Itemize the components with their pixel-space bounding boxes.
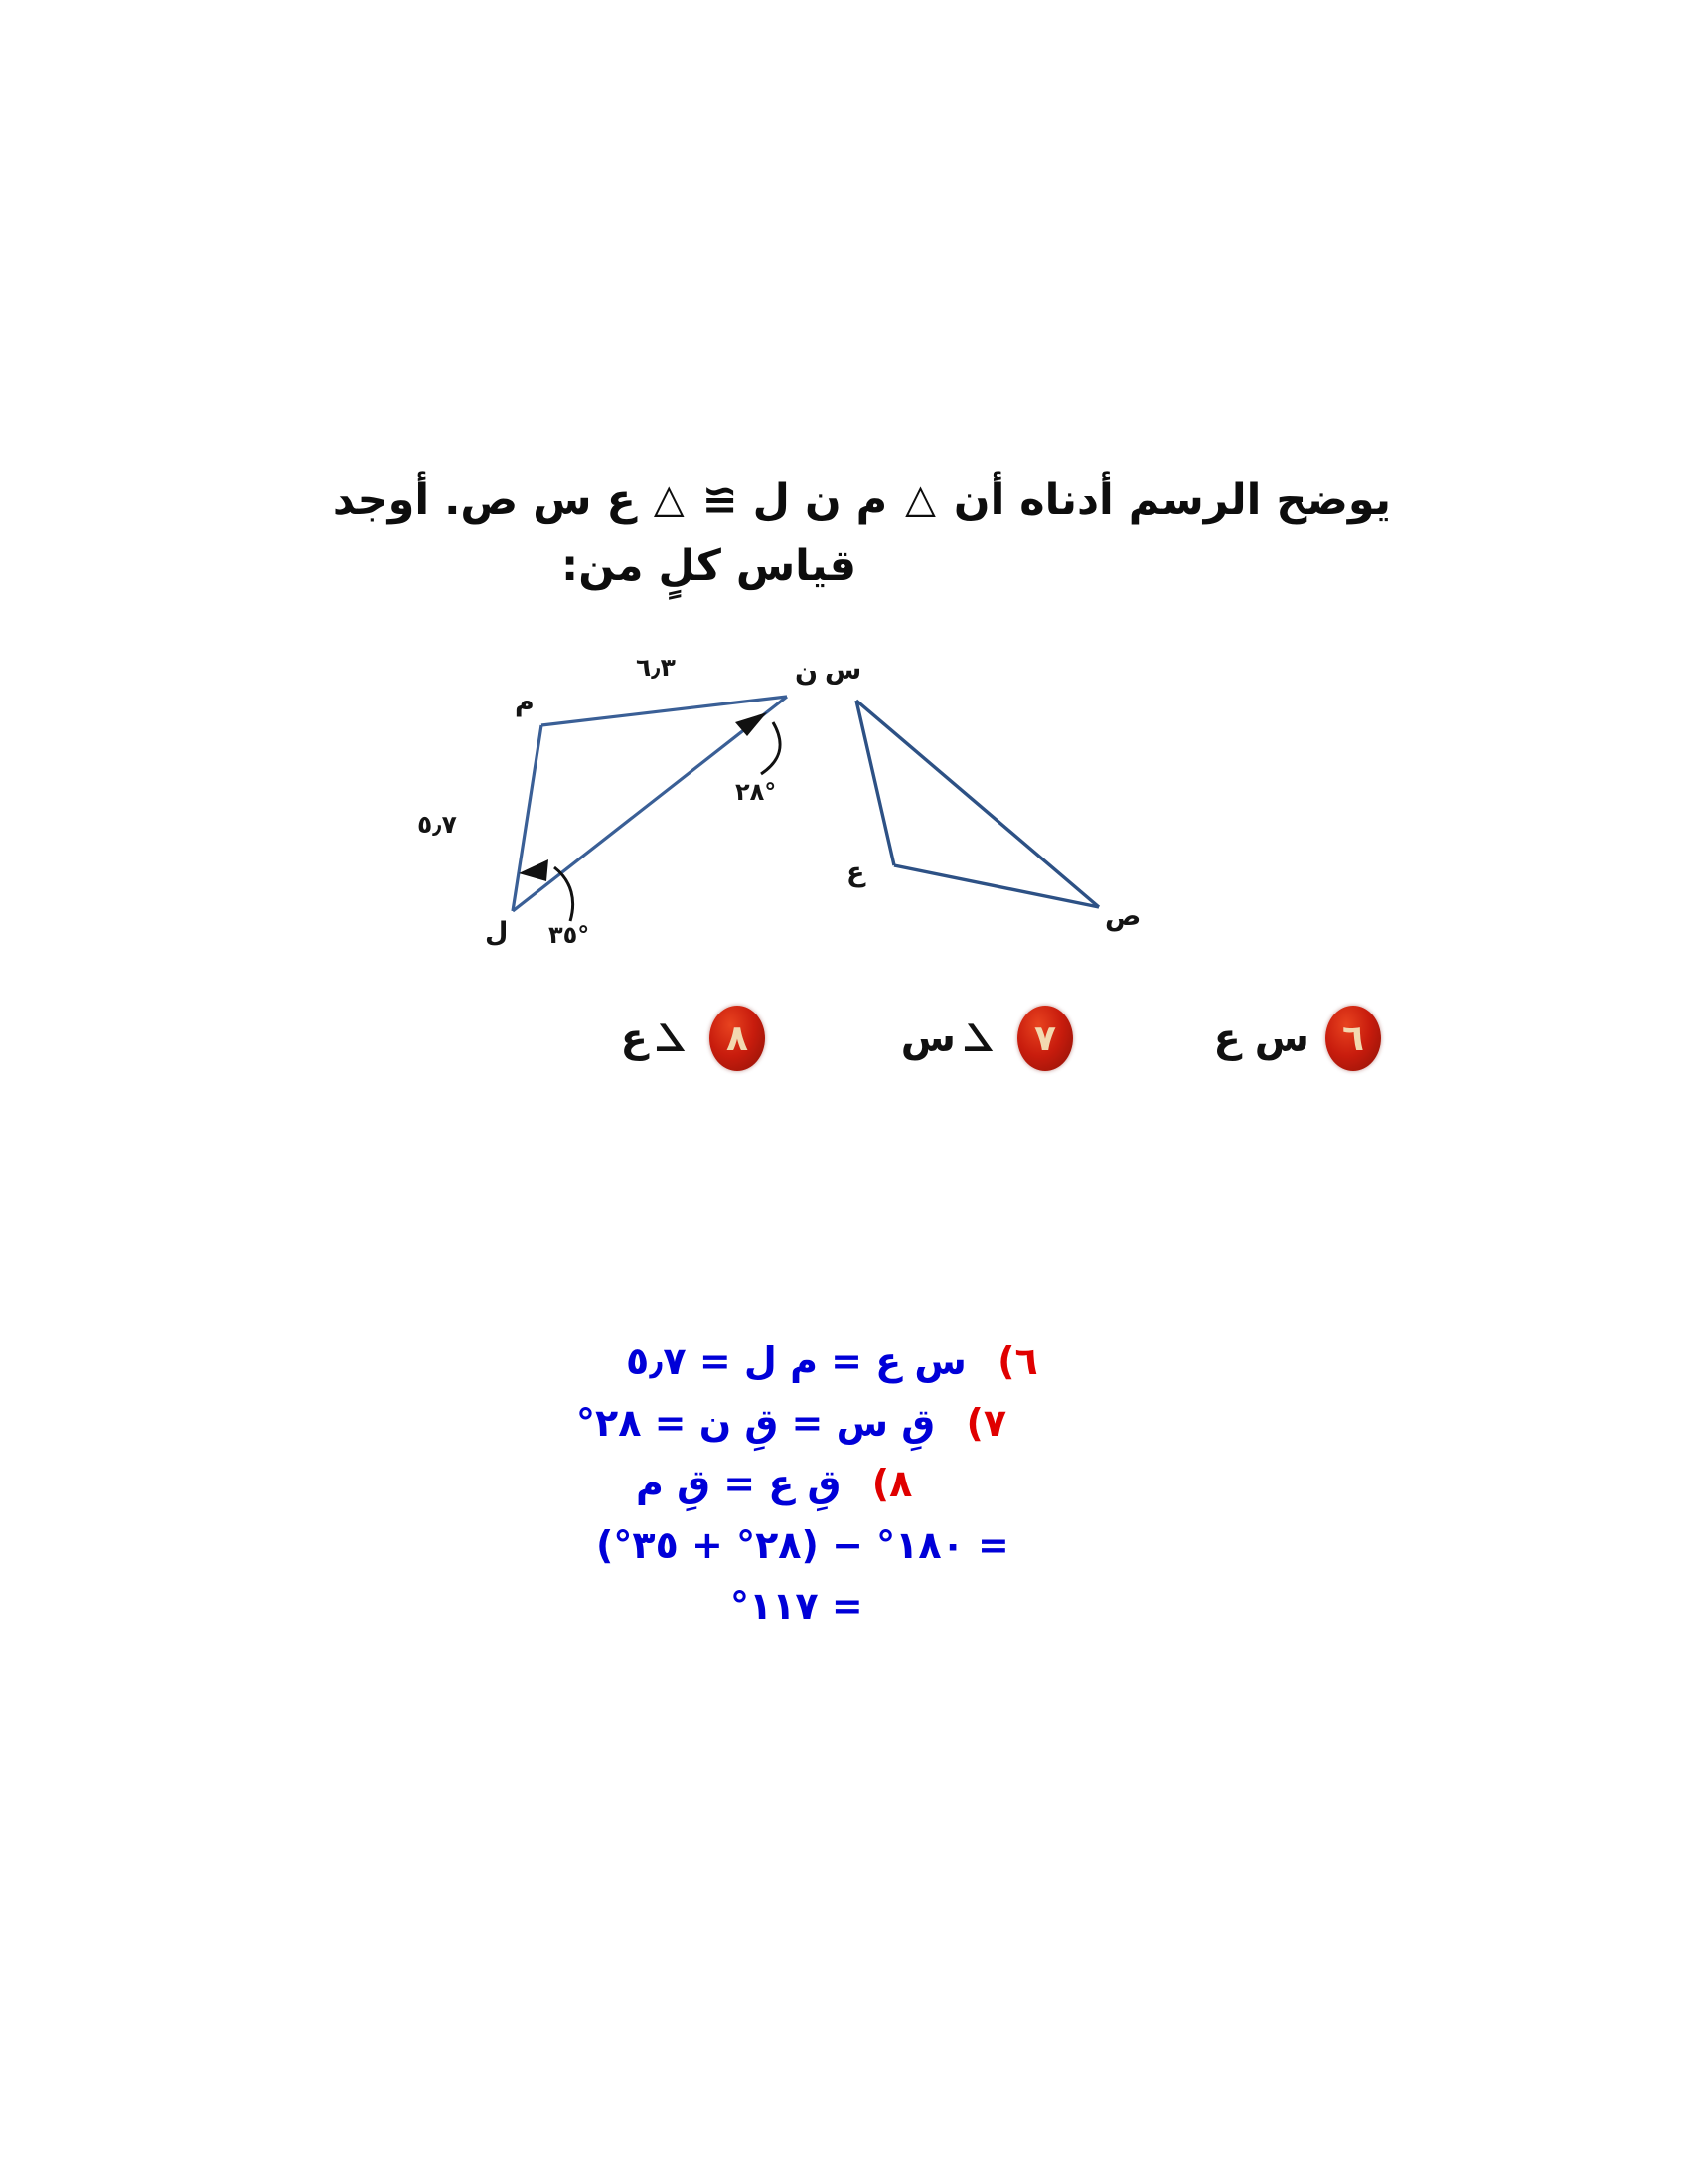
angle-icon-7: ∠ (956, 1016, 1001, 1060)
answer-number-7: ٧) (949, 1401, 1007, 1445)
angle-leader-noon (761, 722, 780, 774)
item-8[interactable]: ٨ ∠ع (621, 1004, 765, 1073)
segment-ain-sad (894, 865, 1099, 907)
vertex-label-meem: م (515, 687, 535, 717)
side-length-meem-lam: ٥٫٧ (417, 810, 457, 839)
question-text-part1: يوضح الرسم أدناه أن (954, 475, 1391, 525)
triangle-icon-1: △ (902, 468, 939, 530)
vertex-label-ain: ع (846, 858, 864, 888)
worksheet-page: يوضح الرسم أدناه أن △ م ن ل ≅ △ ع س ص. أ… (0, 0, 1689, 2184)
item-7[interactable]: ٧ ∠س (901, 1004, 1073, 1073)
answer-line-result: = ١١٧° (278, 1576, 1391, 1638)
answer-number-6: ٦) (980, 1339, 1038, 1383)
answer-line-8: ٨) قِ ع = قِ م (278, 1454, 1391, 1515)
item-label-6: س ع (1214, 1015, 1309, 1061)
vertex-label-sad: ص (1105, 901, 1141, 932)
answer-number-8: ٨) (854, 1462, 913, 1505)
vertex-label-seen: س (825, 655, 861, 686)
item-number-badge-6[interactable]: ٦ (1325, 1006, 1381, 1071)
angle-icon-8: ∠ (648, 1016, 693, 1060)
item-label-8: ∠ع (621, 1015, 693, 1061)
question-text-part3: ع س ص. أوجد (333, 475, 636, 525)
answer-text-calculation: = ١٨٠° − (٢٨° + ٣٥°) (596, 1523, 1009, 1567)
item-number-badge-8[interactable]: ٨ (709, 1006, 765, 1071)
item-label-7: ∠س (901, 1015, 1001, 1061)
question-header: يوضح الرسم أدناه أن △ م ن ل ≅ △ ع س ص. أ… (288, 467, 1391, 599)
geometry-figure: م ن ل ٦٫٣ ٥٫٧ ٢٨° ٣٥° س ع ص (397, 651, 1242, 969)
item-number-badge-7[interactable]: ٧ (1017, 1006, 1073, 1071)
segment-seen-ain (856, 701, 894, 865)
vertex-label-lam: ل (485, 917, 508, 948)
angle-measure-noon: ٢٨° (735, 778, 776, 806)
congruent-icon: ≅ (702, 475, 738, 525)
angle-measure-lam: ٣٥° (548, 921, 589, 949)
segment-meem-lam (513, 725, 541, 911)
answer-line-calculation: = ١٨٠° − (٢٨° + ٣٥°) (278, 1515, 1391, 1577)
answer-line-6: ٦) س ع = م ل = ٥٫٧ (278, 1331, 1391, 1393)
segment-sad-seen (856, 701, 1099, 907)
triangle-seen-ain-sad (856, 701, 1099, 907)
item-6[interactable]: ٦ س ع (1214, 1004, 1381, 1073)
triangle-icon-2: △ (651, 468, 688, 530)
item-label-text-7: س (901, 1015, 956, 1061)
side-length-meem-noon: ٦٫٣ (636, 653, 676, 682)
answers-block: ٦) س ع = م ل = ٥٫٧ ٧) قِ س = قِ ن = ٢٨° … (278, 1331, 1391, 1638)
answer-text-8: قِ ع = قِ م (636, 1462, 842, 1505)
question-line-1: يوضح الرسم أدناه أن △ م ن ل ≅ △ ع س ص. أ… (288, 467, 1391, 534)
answer-text-6: س ع = م ل = ٥٫٧ (626, 1339, 967, 1383)
angle-arrow-lam (519, 859, 548, 881)
answer-text-7: قِ س = قِ ن = ٢٨° (576, 1401, 935, 1445)
question-line-2: قياس كلٍ من: (288, 534, 1391, 600)
item-label-text-8: ع (621, 1015, 648, 1061)
items-row: ٦ س ع ٧ ∠س ٨ ∠ع (556, 994, 1381, 1103)
question-text-part2: م ن ل (753, 475, 887, 525)
vertex-label-noon: ن (795, 657, 818, 688)
answer-line-7: ٧) قِ س = قِ ن = ٢٨° (278, 1393, 1391, 1455)
answer-text-result: = ١١٧° (730, 1584, 863, 1628)
